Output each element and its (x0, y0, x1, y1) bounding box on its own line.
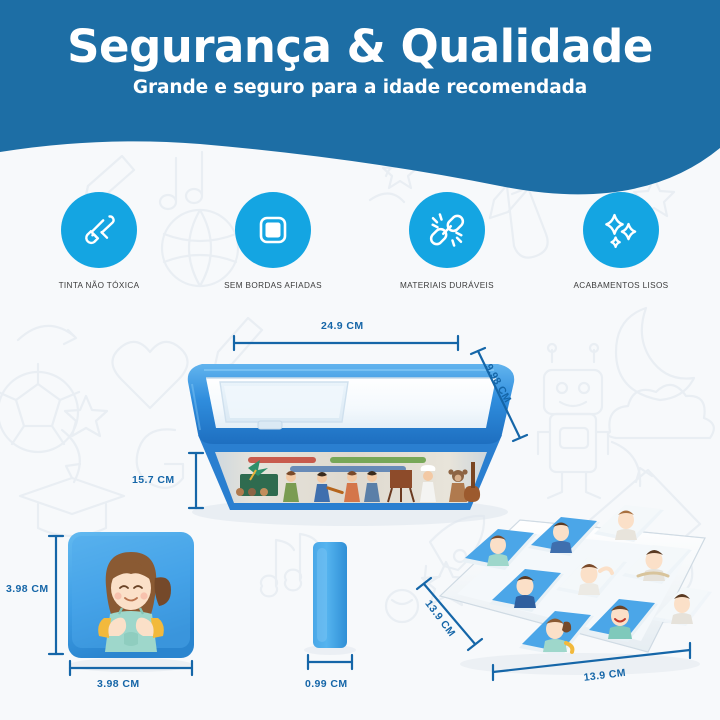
feature-icon-circle (583, 192, 659, 268)
page-title: Segurança & Qualidade (0, 0, 720, 72)
tray-card (586, 599, 658, 642)
tray-card (556, 557, 627, 598)
dimension-label-box-width: 24.9 CM (321, 320, 363, 332)
abc-book-doodle (590, 470, 700, 574)
feature-label: MATERIAIS DURÁVEIS (400, 281, 494, 290)
feature-icon-circle (61, 192, 137, 268)
box-label-characters (236, 460, 480, 502)
bird (248, 460, 268, 480)
dimension-label-card-thickness: 0.99 CM (305, 678, 347, 690)
storage-box-illustration (188, 364, 514, 526)
feature-label: TINTA NÃO TÓXICA (59, 281, 140, 290)
feature-acabamentos-lisos[interactable]: ACABAMENTOS LISOS (556, 192, 686, 290)
dimension-label-card-width: 3.98 CM (97, 678, 139, 690)
sparkles-icon (601, 210, 641, 250)
chain-link-icon (427, 210, 467, 250)
feature-tinta-nao-toxica[interactable]: TINTA NÃO TÓXICA (34, 192, 164, 290)
easel (388, 470, 414, 502)
robot-doodle (538, 344, 608, 498)
dimension-label-card-height: 3.98 CM (6, 583, 48, 595)
monkey (448, 469, 467, 502)
feature-materiais-duraveis[interactable]: MATERIAIS DURÁVEIS (382, 192, 512, 290)
small-pets (236, 488, 268, 496)
tray-card (528, 517, 600, 556)
moon-doodle (616, 308, 694, 400)
header-band (0, 0, 720, 200)
feature-label: SEM BORDAS AFIADAS (224, 281, 322, 290)
arrow-doodle (18, 326, 652, 486)
tray-card (594, 505, 664, 542)
background-doodle-pattern (0, 0, 720, 720)
card-tray-illustration (440, 505, 712, 675)
guitar (464, 462, 480, 502)
dimension-label-tray-width: 13.9 CM (583, 667, 627, 684)
star-cluster-doodle (383, 156, 417, 188)
infographic-page: Segurança & Qualidade Grande e seguro pa… (0, 0, 720, 720)
single-card-illustration (68, 532, 194, 672)
header-text-group: Segurança & Qualidade Grande e seguro pa… (0, 0, 720, 98)
lightbulb-doodle (644, 548, 693, 622)
graduation-cap-doodle (20, 478, 124, 536)
rounded-square-icon (253, 210, 293, 250)
feature-icon-circle (409, 192, 485, 268)
dimension-label-box-height: 15.7 CM (132, 474, 174, 486)
card-thickness-illustration (304, 542, 356, 655)
tray-card (652, 587, 712, 626)
single-card-dimension-lines (49, 536, 192, 675)
tray-dimension-lines (417, 578, 690, 680)
feature-sem-bordas-afiadas[interactable]: SEM BORDAS AFIADAS (208, 192, 338, 290)
tray-card (462, 529, 537, 570)
feature-icon-circle (235, 192, 311, 268)
tray-card (489, 569, 564, 612)
dimension-label-tray-depth: 13.9 CM (422, 598, 457, 639)
soccer-ball-doodle (0, 364, 79, 452)
heart-doodle (112, 342, 187, 408)
feature-label: ACABAMENTOS LISOS (574, 281, 669, 290)
tray-card (622, 545, 692, 584)
paintbrush-icon (79, 210, 119, 250)
cloud-doodle (608, 385, 714, 438)
tray-card (519, 611, 594, 656)
thickness-dimension-line (308, 655, 352, 669)
rocket-doodle (424, 516, 484, 586)
page-subtitle: Grande e seguro para a idade recomendada (0, 72, 720, 98)
dimension-label-box-depth: 9.98 CM (483, 362, 514, 405)
feature-badge-row: TINTA NÃO TÓXICA SEM BORDAS AFIADAS (0, 192, 720, 290)
card-girl-illustration (98, 552, 171, 652)
product-stage (0, 0, 720, 720)
box-dimension-lines (189, 336, 527, 508)
